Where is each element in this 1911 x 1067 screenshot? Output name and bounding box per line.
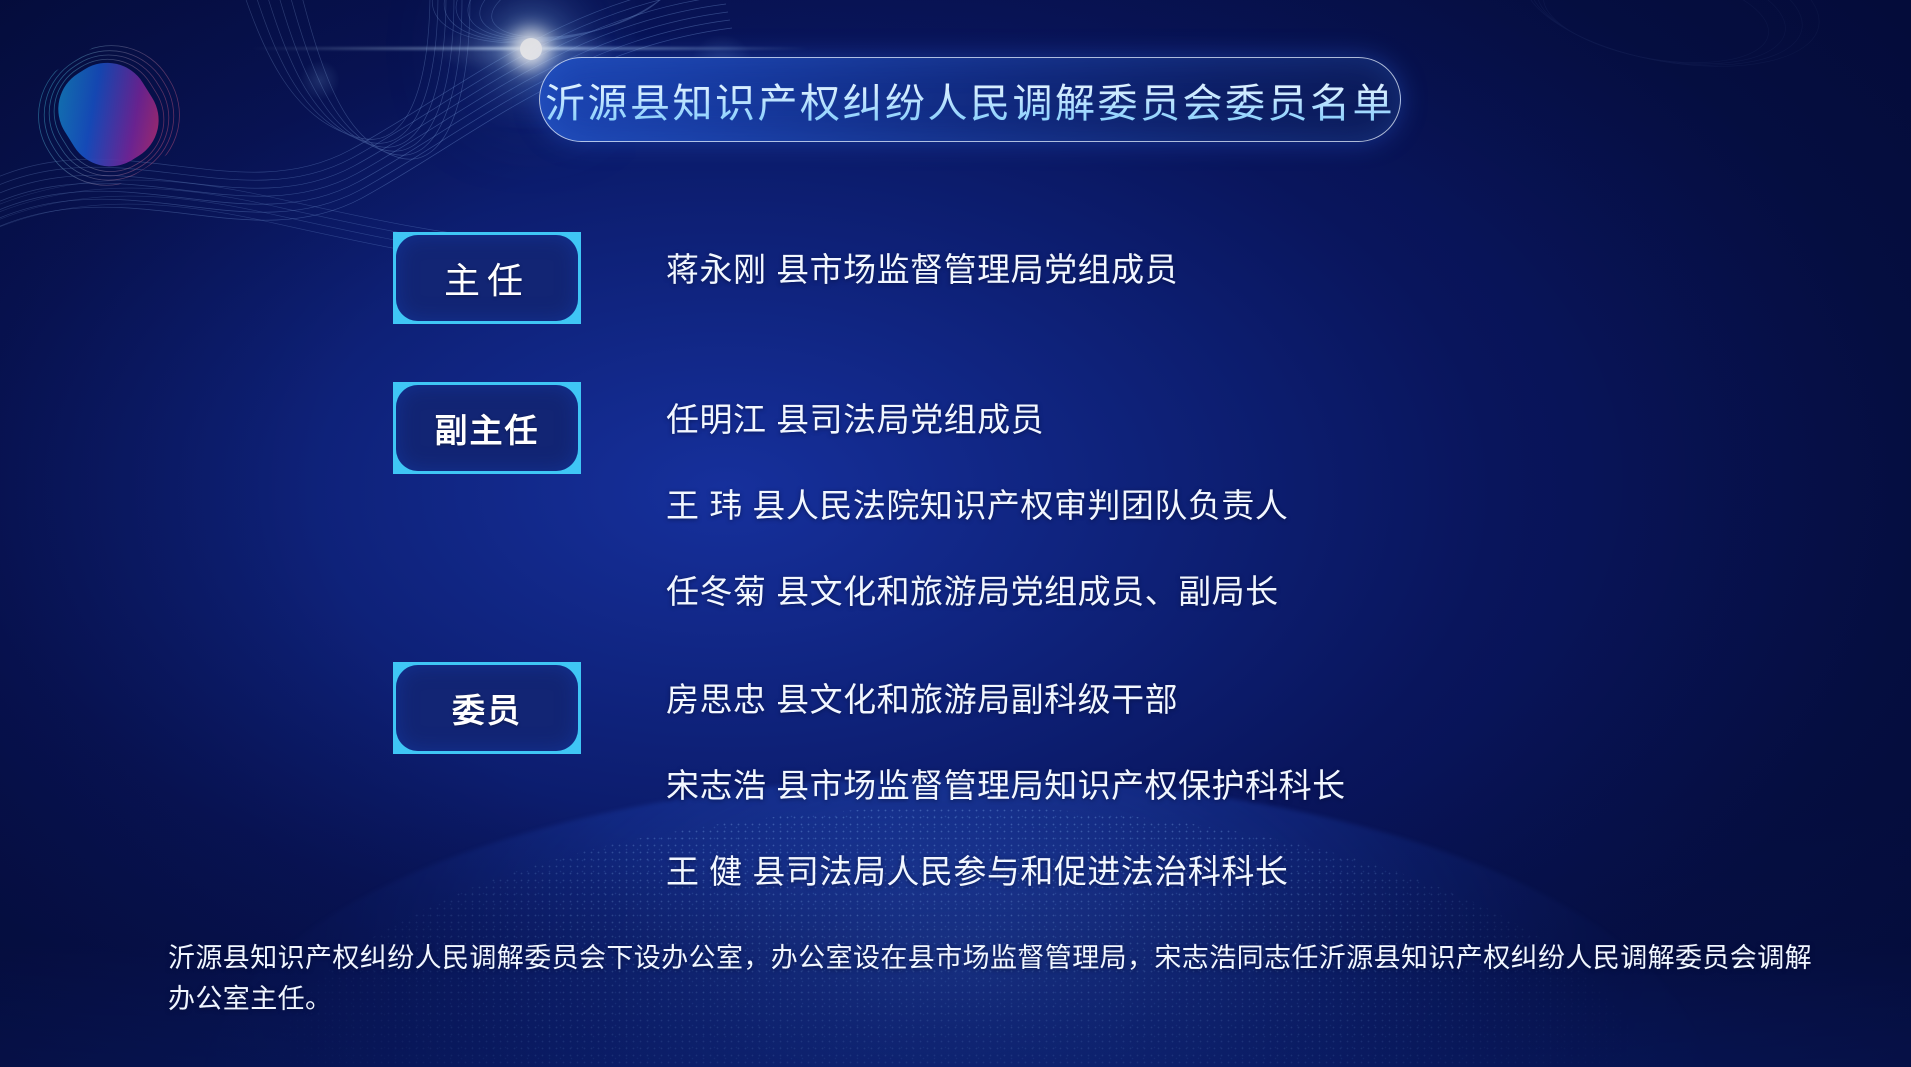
member-row: 任明江 县司法局党组成员: [666, 403, 1288, 436]
role-badge-label: 委员: [452, 684, 522, 732]
committee-roster: 主任 蒋永刚 县市场监督管理局党组成员 副主任 任明江 县司法局党组成员 王 玮…: [0, 0, 1911, 1067]
member-rows: 任明江 县司法局党组成员 王 玮 县人民法院知识产权审判团队负责人 任冬菊 县文…: [666, 382, 1288, 608]
member-row: 王 健 县司法局人民参与和促进法治科科长: [666, 855, 1346, 888]
member-row: 宋志浩 县市场监督管理局知识产权保护科科长: [666, 769, 1346, 802]
role-badge-inner: 委员: [396, 665, 578, 751]
member-row: 王 玮 县人民法院知识产权审判团队负责人: [666, 489, 1288, 522]
role-badge-label: 副主任: [435, 404, 540, 452]
roster-group-director: 主任 蒋永刚 县市场监督管理局党组成员: [393, 232, 1178, 324]
member-row: 蒋永刚 县市场监督管理局党组成员: [666, 253, 1178, 286]
member-row: 任冬菊 县文化和旅游局党组成员、副局长: [666, 575, 1288, 608]
slide-canvas: 沂源县知识产权纠纷人民调解委员会委员名单 主任 蒋永刚 县市场监督管理局党组成员…: [0, 0, 1911, 1067]
member-row: 房思忠 县文化和旅游局副科级干部: [666, 683, 1346, 716]
role-badge-deputy-director: 副主任: [393, 382, 581, 474]
role-badge-inner: 主任: [396, 235, 578, 321]
role-badge-director: 主任: [393, 232, 581, 324]
role-badge-member: 委员: [393, 662, 581, 754]
roster-group-member: 委员 房思忠 县文化和旅游局副科级干部 宋志浩 县市场监督管理局知识产权保护科科…: [393, 662, 1346, 888]
member-rows: 蒋永刚 县市场监督管理局党组成员: [666, 232, 1178, 324]
role-badge-label: 主任: [444, 252, 530, 304]
member-rows: 房思忠 县文化和旅游局副科级干部 宋志浩 县市场监督管理局知识产权保护科科长 王…: [666, 662, 1346, 888]
role-badge-inner: 副主任: [396, 385, 578, 471]
roster-group-deputy-director: 副主任 任明江 县司法局党组成员 王 玮 县人民法院知识产权审判团队负责人 任冬…: [393, 382, 1288, 608]
footer-note: 沂源县知识产权纠纷人民调解委员会下设办公室，办公室设在县市场监督管理局，宋志浩同…: [168, 938, 1828, 1020]
